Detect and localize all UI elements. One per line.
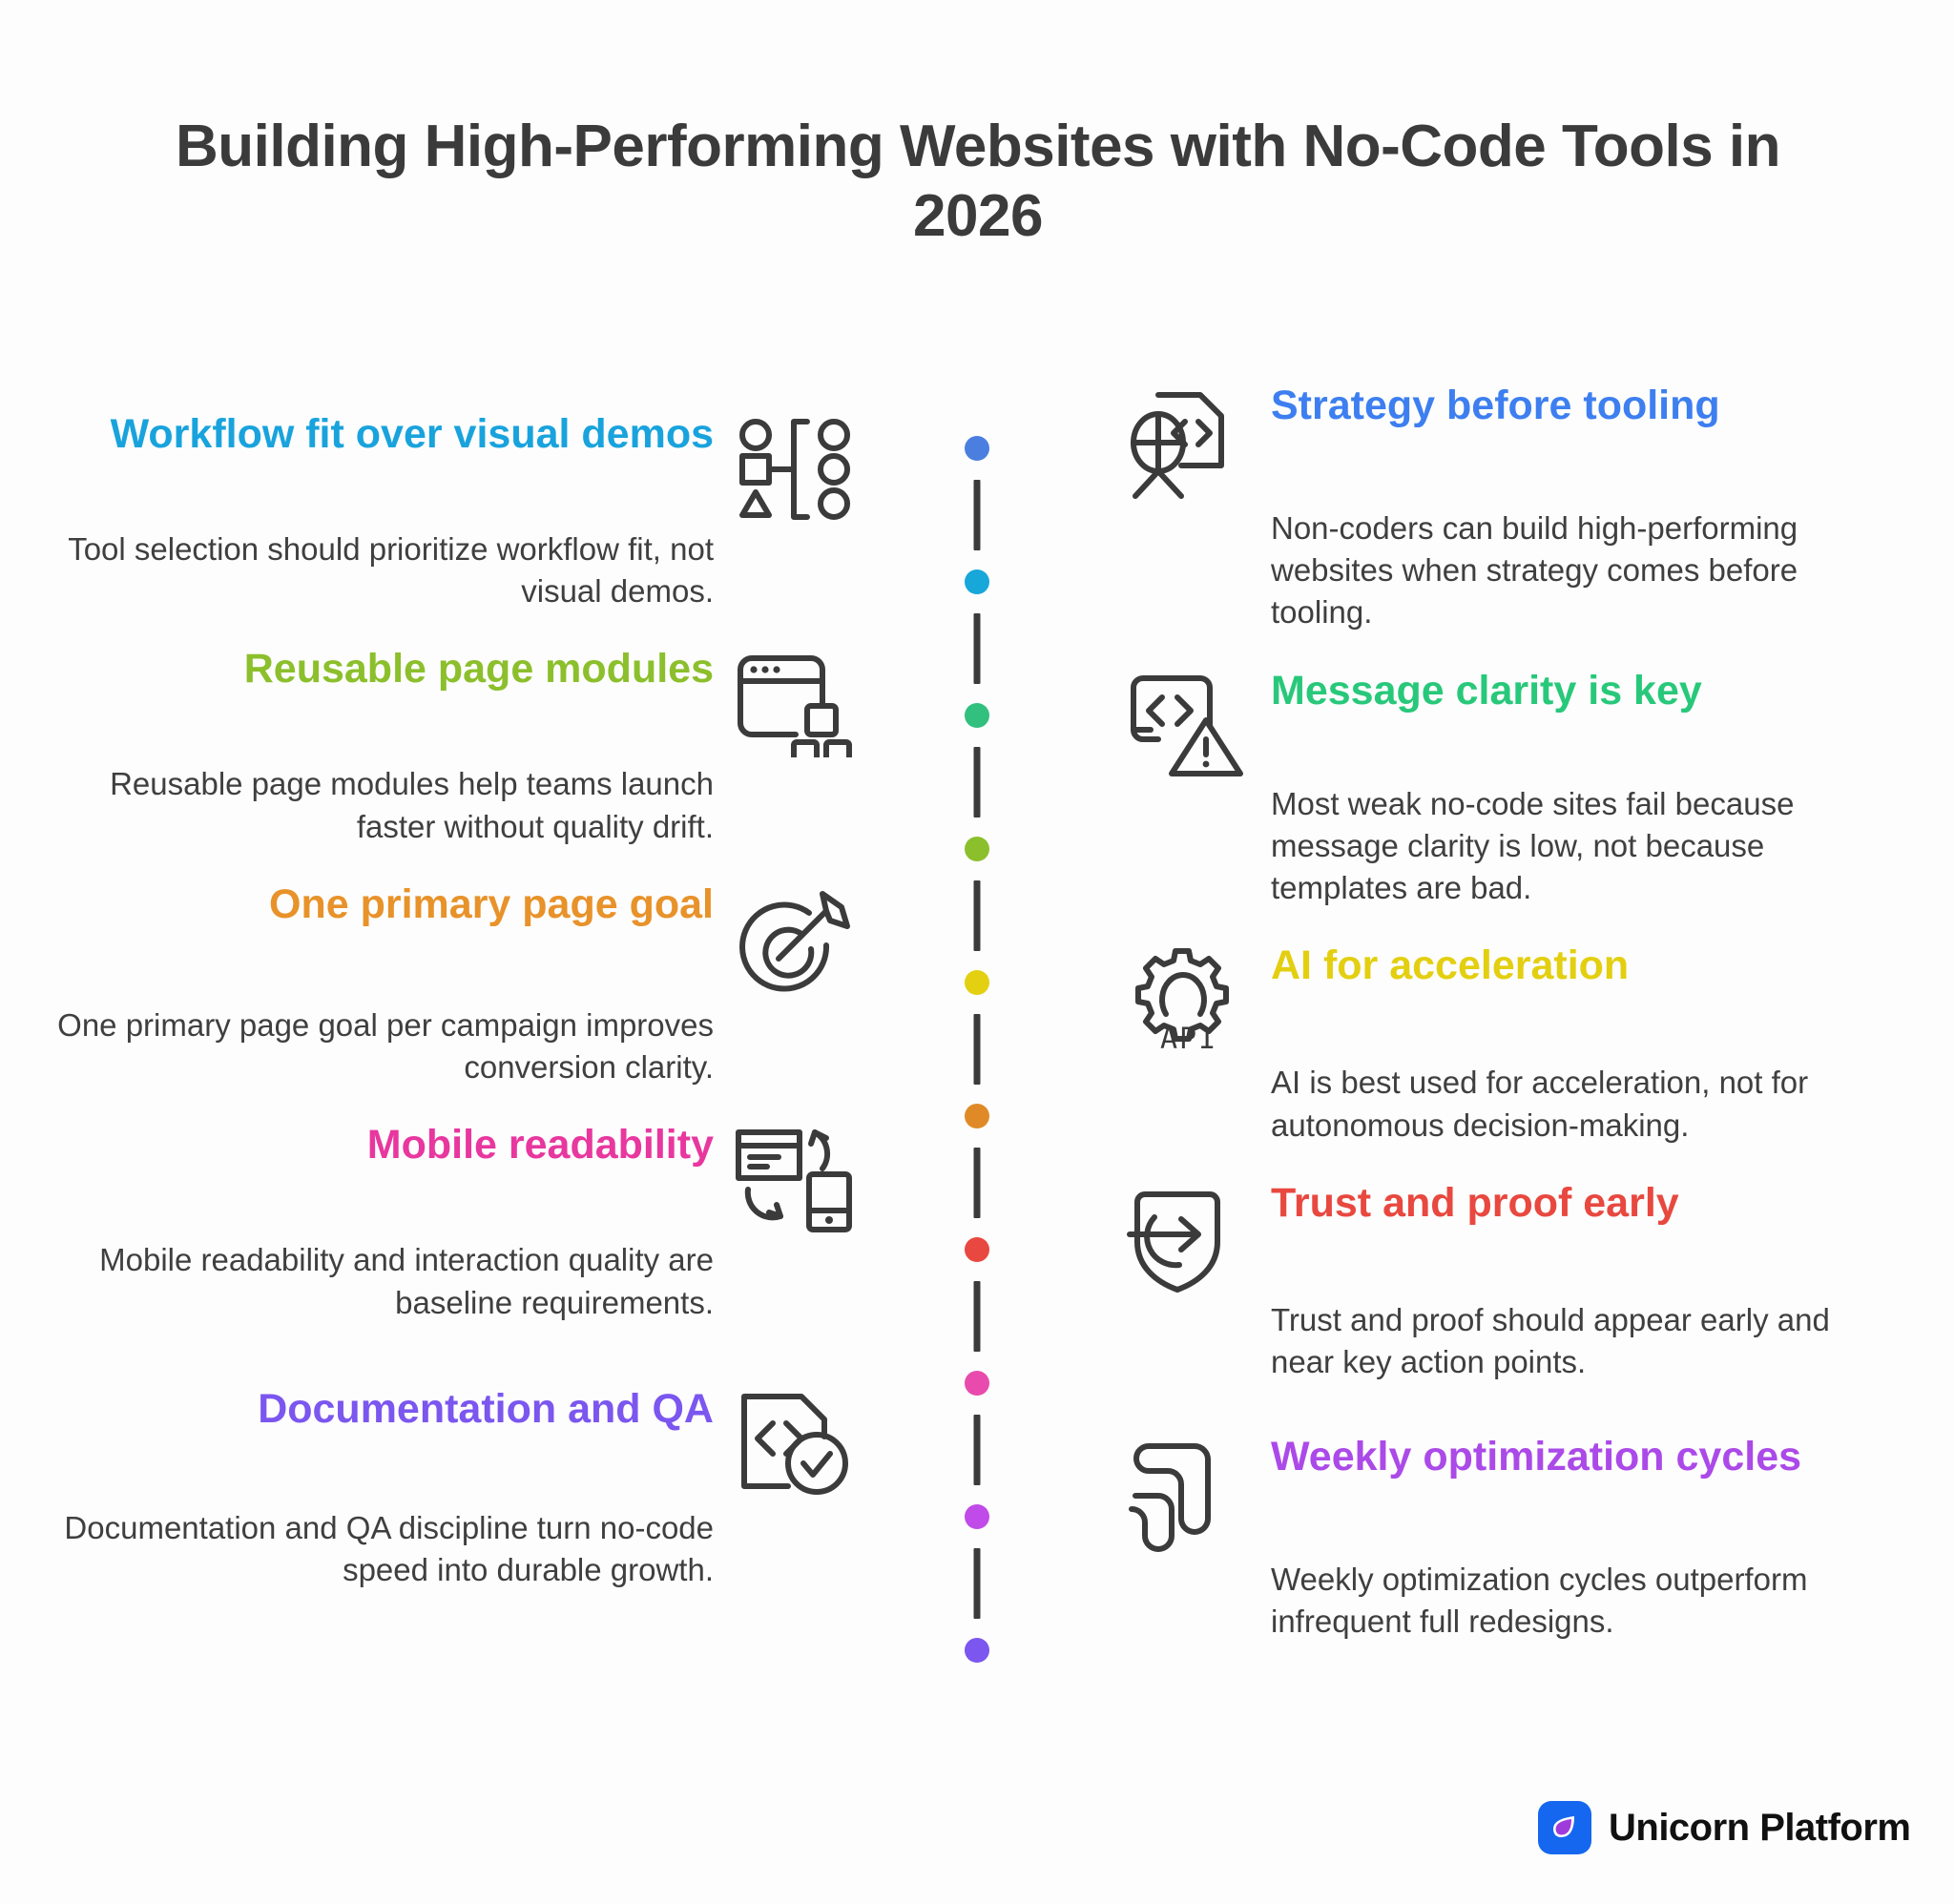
target-arrow-icon (735, 880, 859, 999)
item-heading: Documentation and QA (57, 1385, 714, 1434)
item-body: Documentation and QA discipline turn no-… (57, 1507, 714, 1591)
timeline-dash (974, 613, 981, 684)
workflow-diagram-icon (735, 410, 859, 523)
svg-text:API: API (1160, 1023, 1217, 1056)
item-heading: Workflow fit over visual demos (57, 410, 714, 459)
item-heading: Message clarity is key (1271, 667, 1889, 715)
timeline-dot (965, 436, 989, 461)
item-body: Reusable page modules help teams launch … (57, 763, 714, 847)
item-heading: Mobile readability (57, 1121, 714, 1169)
gear-api-icon: API (1126, 942, 1250, 1056)
timeline-dash (974, 880, 981, 951)
timeline-dash (974, 1014, 981, 1085)
list-item: Mobile readability (57, 1121, 859, 1233)
list-item-body: AI is best used for acceleration, not fo… (1126, 1062, 1889, 1146)
item-heading: One primary page goal (57, 880, 714, 929)
timeline-dot (965, 970, 989, 995)
item-heading: Reusable page modules (57, 645, 714, 693)
timeline-dash (974, 1148, 981, 1218)
brand-name: Unicorn Platform (1609, 1807, 1910, 1850)
icon-spacer (735, 1004, 859, 1010)
item-heading: AI for acceleration (1271, 942, 1889, 990)
icon-spacer (735, 528, 859, 534)
brand-footer: Unicorn Platform (1538, 1801, 1910, 1854)
list-item-body: Documentation and QA discipline turn no-… (57, 1507, 859, 1591)
timeline-spine (973, 448, 981, 1650)
list-item-body: Trust and proof should appear early and … (1126, 1299, 1889, 1383)
timeline-dot (965, 1504, 989, 1529)
list-item: Strategy before tooling (1126, 382, 1889, 502)
item-body: Trust and proof should appear early and … (1271, 1299, 1889, 1383)
timeline-dot (965, 1104, 989, 1128)
infographic-page: Building High-Performing Websites with N… (0, 0, 1954, 1904)
list-item: Weekly optimization cycles (1126, 1433, 1889, 1553)
icon-spacer (735, 1507, 859, 1513)
item-body: Most weak no-code sites fail because mes… (1271, 783, 1889, 910)
right-column: Strategy before tooling Non-coders can b… (1126, 382, 1889, 1649)
list-item: Workflow fit over visual demos (57, 410, 859, 523)
timeline-dot (965, 703, 989, 728)
code-document-check-icon (735, 1385, 859, 1501)
icon-spacer (735, 763, 859, 769)
item-body: AI is best used for acceleration, not fo… (1271, 1062, 1889, 1146)
list-item-body: Non-coders can build high-performing web… (1126, 507, 1889, 634)
timeline-dash (974, 1415, 981, 1485)
icon-spacer (1126, 1062, 1250, 1066)
cycle-blocks-icon (1126, 1433, 1250, 1553)
item-body: One primary page goal per campaign impro… (57, 1004, 714, 1088)
list-item: Documentation and QA (57, 1385, 859, 1501)
desktop-mobile-sync-icon (735, 1121, 859, 1233)
icon-spacer (1126, 1559, 1250, 1563)
code-warning-icon (1126, 667, 1250, 777)
list-item: Reusable page modules (57, 645, 859, 757)
list-item-body: Tool selection should prioritize workflo… (57, 528, 859, 612)
page-title: Building High-Performing Websites with N… (105, 113, 1851, 251)
item-body: Non-coders can build high-performing web… (1271, 507, 1889, 634)
unicorn-platform-logo-icon (1538, 1801, 1591, 1854)
timeline-dash (974, 1548, 981, 1619)
icon-spacer (1126, 783, 1250, 787)
shield-login-icon (1126, 1179, 1250, 1293)
list-item-body: Mobile readability and interaction quali… (57, 1239, 859, 1323)
list-item-body: Weekly optimization cycles outperform in… (1126, 1559, 1889, 1643)
timeline-dash (974, 1281, 981, 1352)
list-item-body: Most weak no-code sites fail because mes… (1126, 783, 1889, 910)
list-item-body: One primary page goal per campaign impro… (57, 1004, 859, 1088)
list-item: One primary page goal (57, 880, 859, 999)
timeline-dot (965, 1638, 989, 1663)
person-code-document-icon (1126, 382, 1250, 502)
timeline-dash (974, 480, 981, 550)
item-body: Mobile readability and interaction quali… (57, 1239, 714, 1323)
icon-spacer (1126, 1299, 1250, 1303)
icon-spacer (735, 1239, 859, 1245)
list-item: Trust and proof early (1126, 1179, 1889, 1293)
browser-modules-icon (735, 645, 859, 757)
item-heading: Trust and proof early (1271, 1179, 1889, 1228)
left-column: Workflow fit over visual demos Tool sele… (57, 410, 859, 1597)
icon-spacer (1126, 507, 1250, 511)
timeline-dot (965, 569, 989, 594)
timeline-dot (965, 1237, 989, 1262)
list-item-body: Reusable page modules help teams launch … (57, 763, 859, 847)
timeline-dash (974, 747, 981, 817)
item-body: Tool selection should prioritize workflo… (57, 528, 714, 612)
item-heading: Weekly optimization cycles (1271, 1433, 1889, 1481)
item-heading: Strategy before tooling (1271, 382, 1889, 430)
timeline-dot (965, 1371, 989, 1396)
list-item: Message clarity is key (1126, 667, 1889, 777)
item-body: Weekly optimization cycles outperform in… (1271, 1559, 1889, 1643)
list-item: API AI for acceleration (1126, 942, 1889, 1056)
timeline-dot (965, 837, 989, 861)
